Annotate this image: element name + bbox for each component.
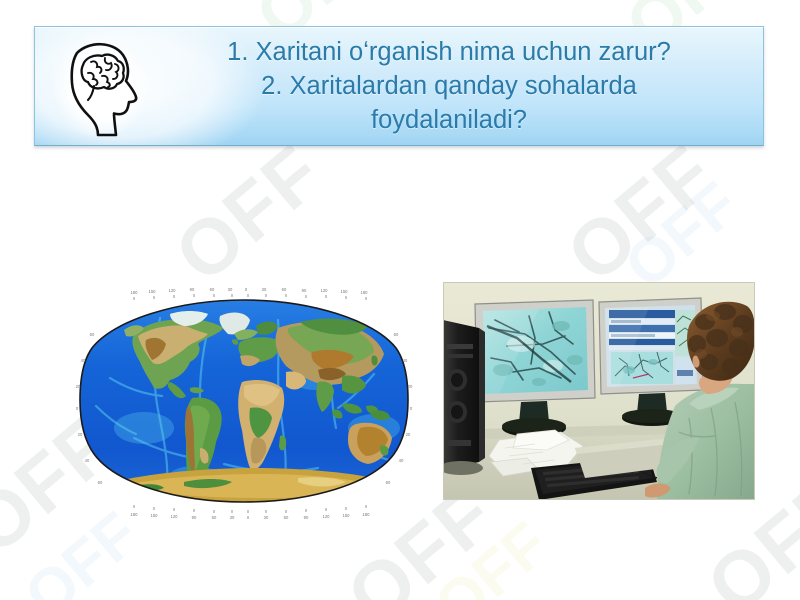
svg-text:120: 120 [169,288,177,293]
brain-head-icon [47,31,155,143]
svg-text:60: 60 [282,287,287,292]
svg-text:60: 60 [98,480,103,485]
watermark-text: OFF [422,508,563,600]
svg-text:20: 20 [406,432,411,437]
svg-text:30: 30 [262,287,267,292]
svg-text:40: 40 [81,358,86,363]
question-line-2: 2. Xaritalardan qanday sohalarda [143,69,755,103]
svg-text:90: 90 [190,287,195,292]
slide-canvas: OFF OFF OFF OFF OFF OFF OFF OFF OFF OFF [0,0,800,600]
gis-workstation-photo [443,282,755,500]
world-physical-map: 180 150 120 90 60 30 0 30 60 90 120 150 … [74,278,414,523]
question-text: 1. Xaritani oʻrganish nima uchun zarur? … [143,35,755,137]
svg-text:60: 60 [386,480,391,485]
svg-text:30: 30 [230,515,235,520]
svg-text:30: 30 [228,287,233,292]
svg-text:90: 90 [304,515,309,520]
watermark-text: OFF [158,127,341,301]
svg-text:60: 60 [210,287,215,292]
svg-text:60: 60 [212,515,217,520]
svg-text:180: 180 [363,512,371,517]
svg-text:40: 40 [403,358,408,363]
svg-text:60: 60 [90,332,95,337]
svg-text:20: 20 [76,384,81,389]
svg-text:40: 40 [85,458,90,463]
svg-text:30: 30 [264,515,269,520]
svg-text:90: 90 [192,515,197,520]
question-banner: 1. Xaritani oʻrganish nima uchun zarur? … [34,26,764,146]
svg-text:20: 20 [408,384,413,389]
svg-text:90: 90 [302,288,307,293]
svg-text:120: 120 [171,514,179,519]
svg-text:150: 150 [151,513,159,518]
svg-text:150: 150 [343,513,351,518]
svg-text:180: 180 [131,512,139,517]
svg-text:120: 120 [323,514,331,519]
svg-text:0: 0 [76,406,79,411]
question-line-3: foydalaniladi? [143,103,755,137]
svg-text:180: 180 [131,290,139,295]
svg-text:0: 0 [247,515,250,520]
svg-text:120: 120 [321,288,329,293]
svg-text:0: 0 [245,287,248,292]
question-line-1: 1. Xaritani oʻrganish nima uchun zarur? [143,35,755,69]
watermark-text: OFF [550,127,733,301]
svg-text:0: 0 [410,406,413,411]
svg-text:180: 180 [361,290,369,295]
svg-text:150: 150 [149,289,157,294]
svg-text:60: 60 [394,332,399,337]
svg-text:20: 20 [78,432,83,437]
svg-text:60: 60 [284,515,289,520]
svg-text:40: 40 [399,458,404,463]
svg-text:150: 150 [341,289,349,294]
